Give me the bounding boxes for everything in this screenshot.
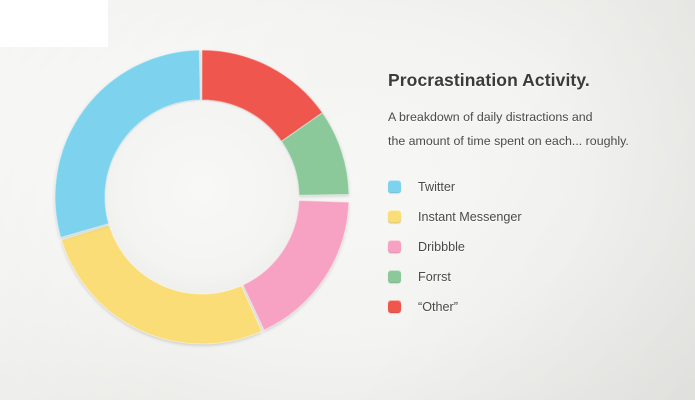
legend-swatch-icon: [388, 180, 401, 193]
legend-swatch-icon: [388, 240, 401, 253]
legend-item[interactable]: “Other”: [388, 292, 668, 322]
legend-item-label: Dribbble: [418, 240, 465, 254]
legend-item[interactable]: Forrst: [388, 262, 668, 292]
legend-swatch-icon: [388, 210, 401, 223]
donut-hole: [106, 101, 298, 293]
donut-chart: [54, 49, 350, 345]
corner-white-artifact: [0, 0, 108, 47]
legend-item-label: Instant Messenger: [418, 210, 522, 224]
subtitle-line-2: the amount of time spent on each... roug…: [388, 135, 668, 147]
legend-item[interactable]: Instant Messenger: [388, 202, 668, 232]
legend-item[interactable]: Twitter: [388, 172, 668, 202]
legend-item-label: Forrst: [418, 270, 451, 284]
subtitle-line-1: A breakdown of daily distractions and: [388, 111, 668, 123]
legend-swatch-icon: [388, 300, 401, 313]
legend-swatch-icon: [388, 270, 401, 283]
chart-legend: TwitterInstant MessengerDribbbleForrst“O…: [388, 172, 668, 322]
chart-canvas: Procrastination Activity. A breakdown of…: [0, 0, 695, 400]
legend-item-label: Twitter: [418, 180, 455, 194]
info-panel: Procrastination Activity. A breakdown of…: [388, 70, 668, 322]
legend-item[interactable]: Dribbble: [388, 232, 668, 262]
legend-item-label: “Other”: [418, 300, 458, 314]
donut-chart-svg: [54, 49, 350, 345]
page-title: Procrastination Activity.: [388, 70, 668, 91]
